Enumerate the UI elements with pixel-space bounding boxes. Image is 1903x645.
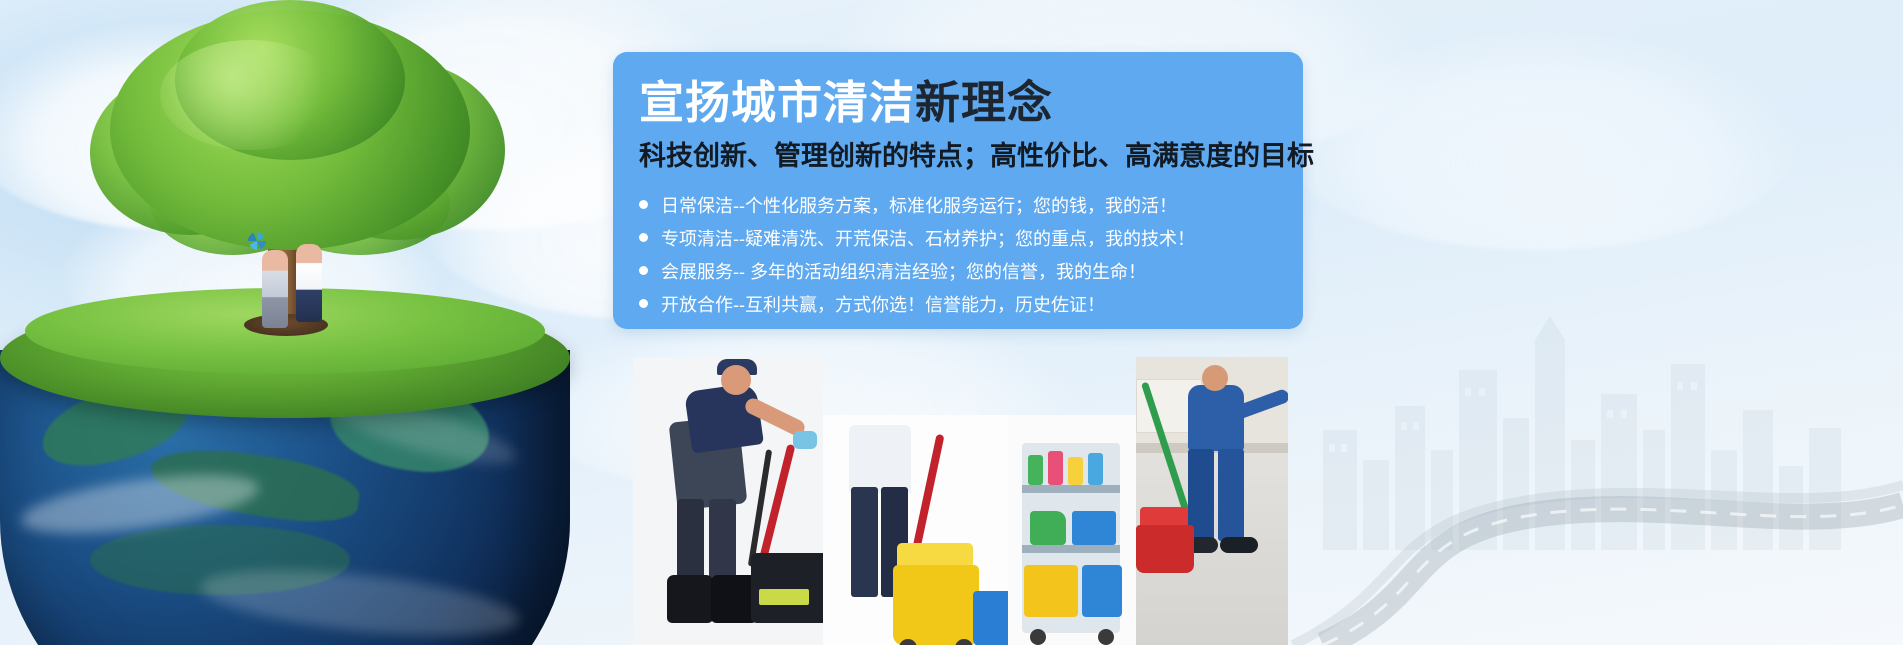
worker-head — [721, 365, 751, 395]
worker-torso — [684, 382, 764, 453]
service-bullet-list: 日常保洁--个性化服务方案，标准化服务运行；您的钱，我的活！ 专项清洁--疑难清… — [639, 188, 1195, 320]
worker-glove — [793, 431, 817, 449]
worker-shoe — [1220, 537, 1258, 553]
list-item: 日常保洁--个性化服务方案，标准化服务运行；您的钱，我的活！ — [639, 188, 1195, 221]
list-item-label: 开放合作--互利共赢，方式你选！信誉能力，历史佐证！ — [661, 291, 1105, 317]
trolley-shelf — [1022, 485, 1120, 493]
red-mop-bucket — [1136, 525, 1194, 573]
pinwheel-icon — [246, 230, 268, 252]
child-figure — [296, 244, 322, 322]
bullet-dot-icon — [639, 299, 648, 308]
trolley-wheel — [1030, 629, 1046, 645]
worker-leg — [709, 499, 736, 581]
canopy-highlight — [160, 40, 340, 150]
worker-leg — [851, 487, 878, 597]
worker-leg — [1218, 449, 1244, 541]
cloud-icon — [1280, 30, 1800, 250]
spray-bottle — [1028, 455, 1043, 485]
spray-bottle — [1088, 453, 1103, 485]
mop-bucket — [893, 565, 979, 645]
list-item-label: 专项清洁--疑难清洗、开荒保洁、石材养护；您的重点，我的技术！ — [661, 225, 1195, 251]
kitchen-mopping-worker-photo — [1136, 357, 1288, 645]
floor-scrubber-worker-photo — [633, 357, 823, 645]
road-decoration — [1283, 385, 1903, 645]
bullet-dot-icon — [639, 266, 648, 275]
list-item-label: 会展服务-- 多年的活动组织清洁经验；您的信誉，我的生命！ — [661, 258, 1146, 284]
worker-boot — [667, 575, 713, 623]
supply-box — [1072, 511, 1116, 545]
worker-head — [1202, 365, 1228, 391]
bullet-dot-icon — [639, 200, 648, 209]
child-figure — [262, 250, 288, 328]
subheadline: 科技创新、管理创新的特点；高性价比、高满意度的目标 — [639, 138, 1314, 174]
spray-bottle — [1068, 457, 1083, 485]
cloud-swirl — [198, 558, 522, 645]
cleaning-service-banner: 宣扬城市清洁新理念 科技创新、管理创新的特点；高性价比、高满意度的目标 日常保洁… — [0, 0, 1903, 645]
earth-tree-illustration — [0, 0, 600, 645]
headline-tail: 新理念 — [915, 77, 1053, 128]
worker-leg — [677, 499, 704, 581]
blue-bucket — [1082, 565, 1122, 617]
blue-bucket — [973, 591, 1008, 645]
worker-coat — [849, 425, 911, 493]
yellow-bucket — [1024, 565, 1078, 617]
floor-machine — [751, 553, 823, 623]
spray-bottle — [1048, 451, 1063, 485]
list-item: 会展服务-- 多年的活动组织清洁经验；您的信誉，我的生命！ — [639, 254, 1195, 287]
bullet-dot-icon — [639, 233, 648, 242]
list-item: 开放合作--互利共赢，方式你选！信誉能力，历史佐证！ — [639, 287, 1195, 320]
trolley-wheel — [1098, 629, 1114, 645]
page-title: 宣扬城市清洁新理念 — [639, 75, 1053, 131]
headline-highlight: 宣扬城市清洁 — [639, 77, 915, 128]
dustpan — [1030, 511, 1066, 545]
photo-strip — [633, 357, 1288, 645]
worker-torso — [1188, 385, 1244, 451]
mop-bucket-wringer-photo — [823, 415, 1008, 645]
message-panel: 宣扬城市清洁新理念 科技创新、管理创新的特点；高性价比、高满意度的目标 日常保洁… — [613, 52, 1303, 329]
cleaning-trolley-photo — [1008, 415, 1136, 645]
list-item-label: 日常保洁--个性化服务方案，标准化服务运行；您的钱，我的活！ — [661, 192, 1177, 218]
list-item: 专项清洁--疑难清洗、开荒保洁、石材养护；您的重点，我的技术！ — [639, 221, 1195, 254]
trolley-shelf — [1022, 545, 1120, 553]
machine-panel — [759, 589, 809, 605]
